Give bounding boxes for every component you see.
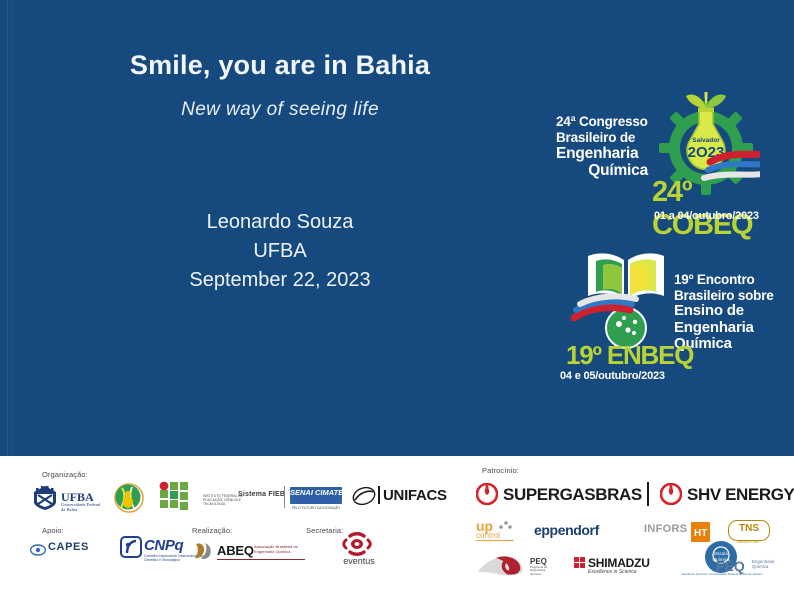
book-flask-icon (568, 246, 680, 354)
section-label-organizacao: Organização: (42, 470, 88, 479)
section-label-patrocinio: Patrocínio: (482, 466, 519, 475)
cobeq-logo: Salvador 2O23 24ª Congresso Brasileiro d… (556, 96, 788, 238)
logo-feq: FEQ Engenharia Química (716, 556, 786, 580)
slide-subtitle: New way of seeing life (0, 99, 560, 121)
logo-abeq: ABEQ Associação Brasileira de Engenharia… (192, 540, 308, 564)
logo-ifba: INSTITUTO FEDERAL DE EDUCAÇÃO, CIÊNCIA E… (158, 480, 244, 514)
cobeq-name: 24ª Congresso Brasileiro de Engenharia Q… (556, 114, 648, 179)
svg-text:Salvador: Salvador (692, 137, 720, 144)
feq-wordmark: FEQ (716, 558, 745, 574)
shv-energy-wordmark: SHV ENERGY (687, 485, 794, 505)
logo-capes: CAPES (30, 540, 106, 562)
capes-wordmark: CAPES (48, 541, 89, 553)
ufba-sub: Universidade Federal da Bahia (61, 502, 105, 512)
infors-ht-badge: HT (691, 522, 710, 542)
infors-ht-label: HT (694, 528, 707, 539)
logo-separator (284, 486, 285, 508)
logo-unifacs: UNIFACS (352, 484, 434, 508)
abeq-wordmark: ABEQ (217, 543, 254, 558)
capes-icon (30, 543, 46, 557)
eppendorf-wordmark: eppendorf (534, 522, 599, 538)
flame-power-icon (476, 483, 498, 505)
enbeq-logo: 19º Encontro Brasileiro sobre Ensino de … (556, 248, 788, 388)
cnpq-wordmark: CNPq (144, 537, 183, 554)
presentation-date: September 22, 2023 (0, 266, 560, 295)
unifacs-wordmark: UNIFACS (383, 487, 447, 504)
shimadzu-icon (574, 557, 586, 569)
sponsor-footer: Organização: UFBA Universidade Federal d… (0, 456, 794, 596)
senai-wordmark: SENAI CIMATEC (290, 488, 342, 497)
logo-tns: TNS (728, 520, 770, 541)
senai-sub: PELO FUTURO DA INOVAÇÃO (290, 505, 342, 512)
flame-power-icon-2 (660, 483, 682, 505)
author-affiliation: UFBA (0, 237, 560, 266)
peq60-icon (476, 552, 528, 578)
unifacs-icon (352, 485, 376, 507)
enbeq-date: 04 e 05/outubro/2023 (560, 370, 665, 382)
tns-wordmark: TNS (729, 523, 769, 534)
upcontrol-icon (498, 519, 512, 531)
ifba-sub: INSTITUTO FEDERAL DE EDUCAÇÃO, CIÊNCIA E… (203, 494, 243, 506)
cobeq-date: 01 a 04/outubro/2023 (654, 210, 759, 222)
abeq-sub: Associação Brasileira de Engenharia Quím… (254, 545, 306, 554)
ifba-grid-icon (158, 480, 200, 514)
patrocinio-row-3: PEQ Programa de Engenharia Química SHIMA… (476, 552, 782, 584)
logo-shimadzu: SHIMADZU Excellence in Science (574, 556, 674, 580)
supergasbras-wordmark: SUPERGASBRAS (503, 485, 642, 505)
section-label-apoio: Apoio: (42, 526, 64, 535)
author-name: Leonardo Souza (0, 208, 560, 237)
eventus-icon (340, 532, 374, 556)
fieb-wordmark: Sistema FIEB (238, 491, 285, 498)
abeq-icon (192, 540, 214, 562)
enbeq-wordmark: 19º ENBEQ (566, 340, 693, 371)
upcontrol-rule (476, 540, 514, 541)
green-globe-icon (112, 482, 146, 514)
peq-sub: Programa de Engenharia Química (530, 566, 552, 576)
slide-background: Smile, you are in Bahia New way of seein… (0, 0, 794, 456)
logo-eventus: eventus (336, 532, 382, 568)
logo-ufba: UFBA Universidade Federal da Bahia (30, 484, 102, 512)
author-block: Leonardo Souza UFBA September 22, 2023 (0, 208, 560, 295)
feq-sub: Engenharia Química (752, 559, 786, 569)
senai-cimatec-icon: SENAI CIMATEC (290, 487, 342, 504)
unifacs-separator (378, 486, 380, 504)
logo-fieb-senai: Sistema FIEB SENAI CIMATEC PELO FUTURO D… (238, 486, 346, 510)
shimadzu-sub: Excellence in Science (588, 569, 637, 576)
eventus-wordmark: eventus (336, 556, 382, 566)
shimadzu-wordmark: SHIMADZU (588, 556, 650, 570)
cobeq-wordmark: 24º COBEQ (652, 176, 788, 242)
logo-peq60: PEQ Programa de Engenharia Química (476, 552, 550, 580)
section-label-realizacao: Realização: (192, 526, 232, 535)
logo-upcontrol: up control (476, 518, 516, 542)
page-title: Smile, you are in Bahia (0, 50, 560, 81)
patrocinio-main-row: SUPERGASBRAS SHV ENERGY (476, 482, 776, 508)
cnpq-icon (120, 536, 142, 558)
patrocinio-separator (647, 482, 649, 506)
upcontrol-sub: control (476, 531, 500, 540)
logo-green-circle (112, 482, 146, 514)
presentation-slide: Smile, you are in Bahia New way of seein… (0, 0, 794, 596)
infors-wordmark: INFORS (644, 523, 687, 535)
ufba-crest-icon (30, 484, 60, 512)
abeq-rule (217, 559, 305, 560)
